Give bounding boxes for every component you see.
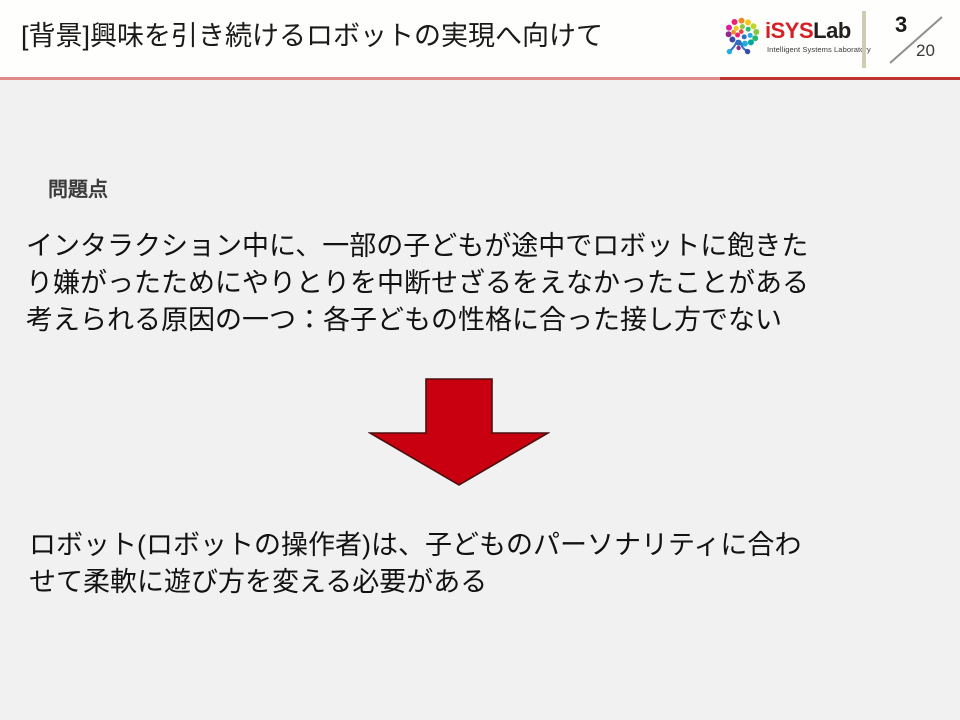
header-rule-accent: [720, 77, 960, 80]
isyslab-logo: iSYSLab Intelligent Systems Laboratory: [721, 14, 861, 64]
page-number-current: 3: [895, 14, 907, 36]
conclusion-line: せて柔軟に遊び方を変える必要がある: [29, 564, 941, 601]
logo-wordmark: iSYSLab: [765, 19, 851, 43]
conclusion-text-block: ロボット(ロボットの操作者)は、子どものパーソナリティに合わ せて柔軟に遊び方を…: [29, 527, 941, 601]
problem-line: インタラクション中に、一部の子どもが途中でロボットに飽きた: [26, 228, 942, 265]
problem-line: り嫌がったためにやりとりを中断せざるをえなかったことがある: [26, 265, 942, 302]
down-arrow-icon: [368, 377, 550, 487]
problem-text-block: インタラクション中に、一部の子どもが途中でロボットに飽きた り嫌がったためにやり…: [26, 228, 942, 339]
slide-header: [背景]興味を引き続けるロボットの実現へ向けて: [0, 0, 960, 78]
problem-line: 考えられる原因の一つ：各子どもの性格に合った接し方でない: [26, 302, 942, 339]
page-number: 3 20: [884, 12, 948, 68]
page-number-total: 20: [916, 41, 935, 60]
section-label-problem: 問題点: [48, 177, 108, 203]
header-separator: [862, 11, 866, 68]
page-title: [背景]興味を引き続けるロボットの実現へ向けて: [21, 19, 603, 53]
conclusion-line: ロボット(ロボットの操作者)は、子どものパーソナリティに合わ: [29, 527, 941, 564]
logo-wordmark-sys: SYS: [771, 18, 814, 43]
logo-wordmark-lab: Lab: [813, 18, 851, 43]
slide-canvas: [背景]興味を引き続けるロボットの実現へ向けて: [0, 0, 960, 720]
logo-subtitle: Intelligent Systems Laboratory: [767, 45, 871, 54]
brain-network-icon: [721, 17, 763, 57]
